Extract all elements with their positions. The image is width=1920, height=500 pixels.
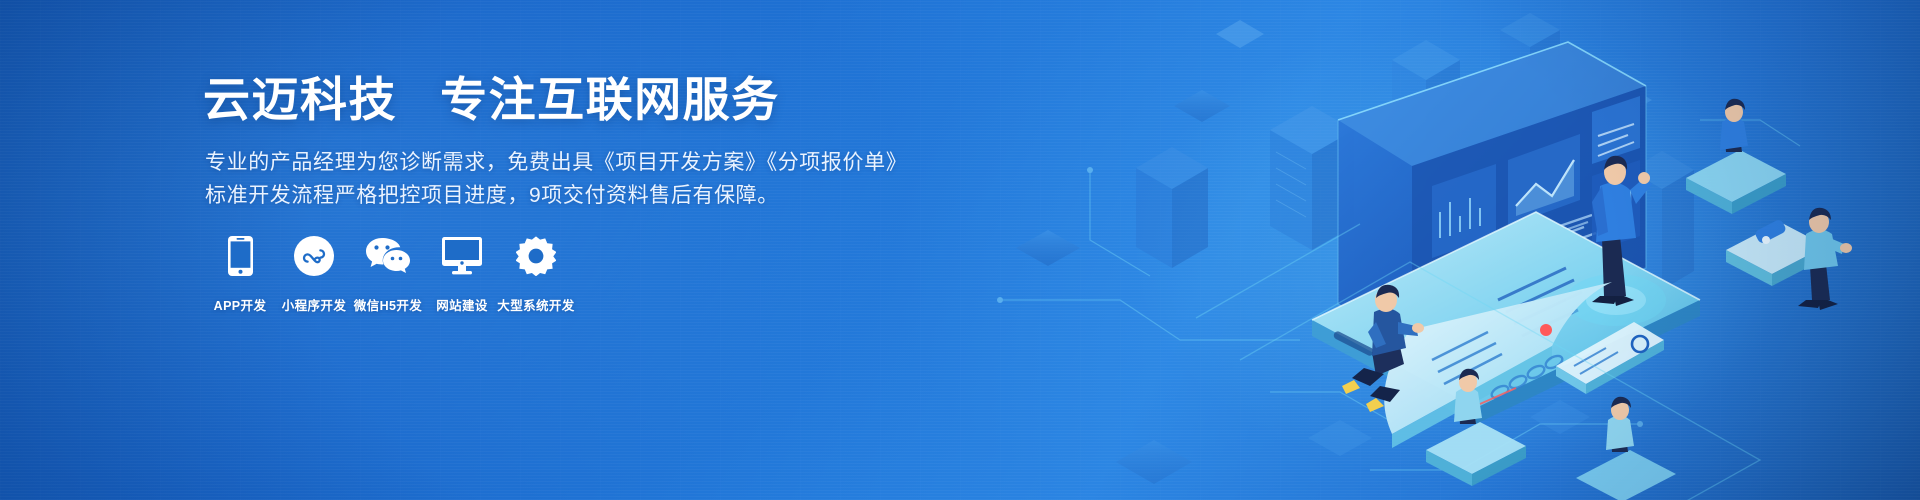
service-label: 网站建设 <box>436 295 488 314</box>
service-label: APP开发 <box>214 295 267 314</box>
illustration-container <box>940 0 1920 500</box>
service-label: 小程序开发 <box>282 295 347 314</box>
page-title: 云迈科技 专注互联网服务 <box>203 72 780 127</box>
subtitle-line-2: 标准开发流程严格把控项目进度，9项交付资料售后有保障。 <box>205 179 907 212</box>
mobile-phone-icon <box>228 233 253 279</box>
service-item-system[interactable]: 大型系统开发 <box>499 233 573 314</box>
headline-tagline: 专注互联网服务 <box>440 73 780 126</box>
subtitle-line-1: 专业的产品经理为您诊断需求，免费出具《项目开发方案》《分项报价单》 <box>205 146 907 179</box>
wechat-icon <box>365 233 411 279</box>
service-item-wechat-h5[interactable]: 微信H5开发 <box>351 233 425 314</box>
gear-icon <box>516 233 556 279</box>
banner-content: 云迈科技 专注互联网服务 专业的产品经理为您诊断需求，免费出具《项目开发方案》《… <box>203 0 963 500</box>
isometric-tech-illustration <box>940 0 1920 500</box>
headline-brand: 云迈科技 <box>203 73 397 126</box>
mini-program-icon <box>294 233 334 279</box>
hero-banner: 云迈科技 专注互联网服务 专业的产品经理为您诊断需求，免费出具《项目开发方案》《… <box>0 0 1920 500</box>
monitor-icon <box>442 233 482 279</box>
service-label: 大型系统开发 <box>497 295 574 314</box>
service-item-website[interactable]: 网站建设 <box>425 233 499 314</box>
subtitle-block: 专业的产品经理为您诊断需求，免费出具《项目开发方案》《分项报价单》 标准开发流程… <box>205 146 907 212</box>
service-label: 微信H5开发 <box>354 295 422 314</box>
service-list: APP开发 小程序开发 <box>203 233 573 314</box>
service-item-app[interactable]: APP开发 <box>203 233 277 314</box>
service-item-miniprogram[interactable]: 小程序开发 <box>277 233 351 314</box>
